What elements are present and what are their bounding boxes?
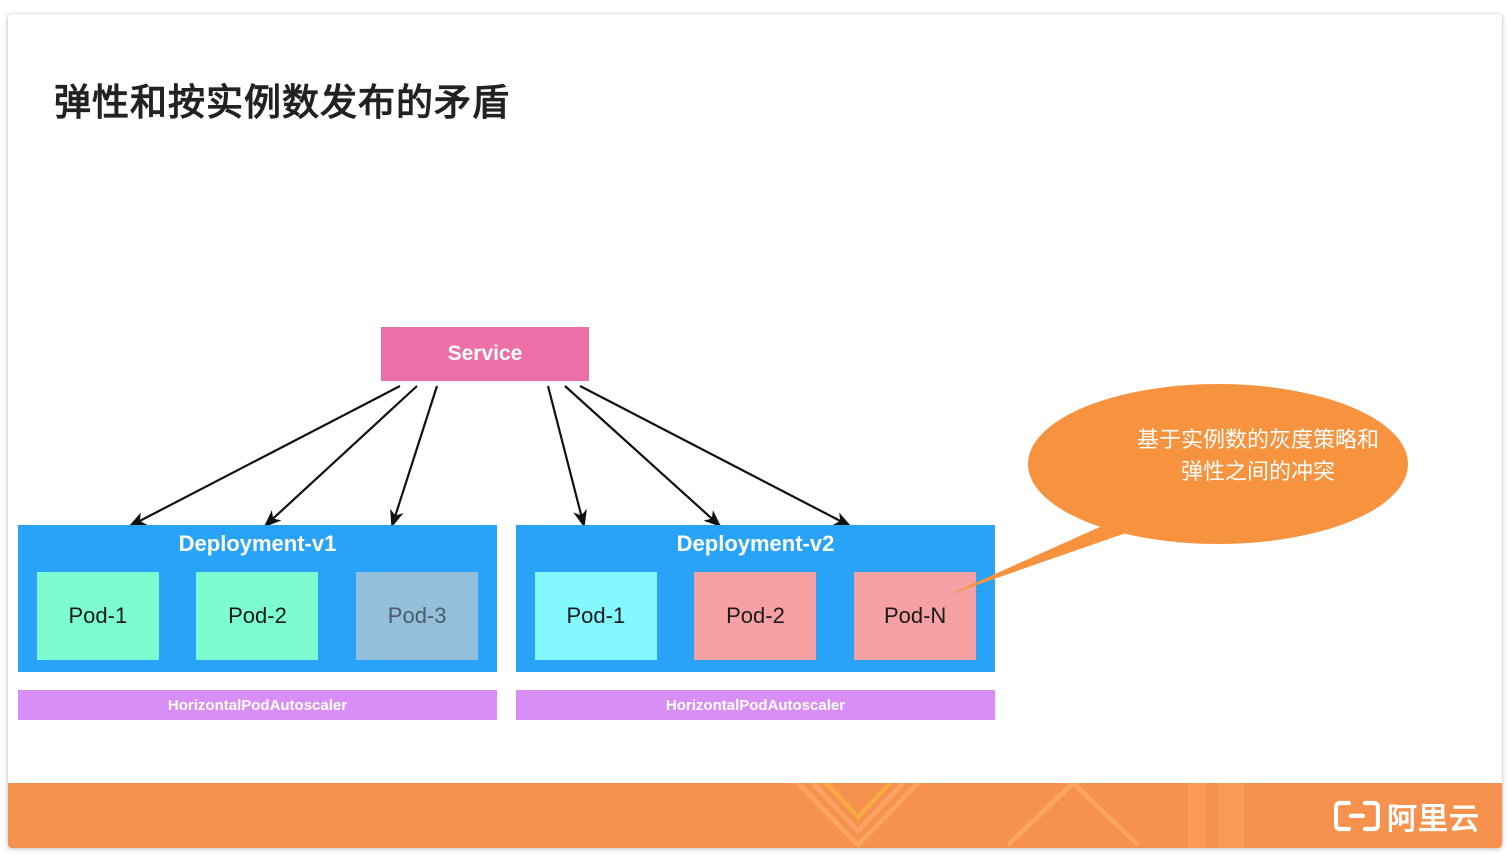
brand-name: 阿里云 [1387, 794, 1480, 838]
horizontal-pod-autoscaler-v1[interactable]: HorizontalPodAutoscaler [18, 690, 497, 720]
callout-line-1: 基于实例数的灰度策略和 [1108, 424, 1408, 456]
brand-logo: 阿里云 [1334, 794, 1480, 838]
callout-line-2: 弹性之间的冲突 [1108, 456, 1408, 488]
autoscaler-label: HorizontalPodAutoscaler [666, 697, 845, 714]
pod-label: Pod-1 [566, 603, 625, 629]
alibaba-cloud-bracket-icon [1334, 800, 1380, 832]
callout-text: 基于实例数的灰度策略和 弹性之间的冲突 [1108, 424, 1408, 488]
pod-box[interactable]: Pod-3 [356, 572, 478, 660]
slide-root: 弹性和按实例数发布的矛盾 [0, 0, 1510, 862]
pod-label: Pod-1 [68, 603, 127, 629]
deployment-v1-node[interactable]: Deployment-v1 Pod-1 Pod-2 Pod-3 [18, 525, 497, 672]
pod-box[interactable]: Pod-1 [535, 572, 657, 660]
deployment-v2-pod-row: Pod-1 Pod-2 Pod-N [516, 570, 995, 662]
pod-box[interactable]: Pod-1 [37, 572, 159, 660]
deployment-v2-node[interactable]: Deployment-v2 Pod-1 Pod-2 Pod-N [516, 525, 995, 672]
pod-box[interactable]: Pod-2 [196, 572, 318, 660]
pod-box[interactable]: Pod-2 [694, 572, 816, 660]
service-node[interactable]: Service [381, 327, 589, 381]
deployment-v1-title: Deployment-v1 [18, 531, 497, 557]
slide-canvas: 弹性和按实例数发布的矛盾 [8, 14, 1502, 848]
footer-chevron-pattern [8, 783, 1502, 848]
service-label: Service [448, 342, 523, 366]
deployment-v2-title: Deployment-v2 [516, 531, 995, 557]
deployment-v1-pod-row: Pod-1 Pod-2 Pod-3 [18, 570, 497, 662]
footer-bar: 阿里云 [8, 783, 1502, 848]
autoscaler-label: HorizontalPodAutoscaler [168, 697, 347, 714]
pod-label: Pod-2 [228, 603, 287, 629]
pod-label: Pod-N [884, 603, 946, 629]
pod-box[interactable]: Pod-N [854, 572, 976, 660]
horizontal-pod-autoscaler-v2[interactable]: HorizontalPodAutoscaler [516, 690, 995, 720]
architecture-diagram: Service Deployment-v1 Pod-1 Pod-2 Pod-3 [8, 14, 1502, 848]
pod-label: Pod-2 [726, 603, 785, 629]
pod-label: Pod-3 [388, 603, 447, 629]
